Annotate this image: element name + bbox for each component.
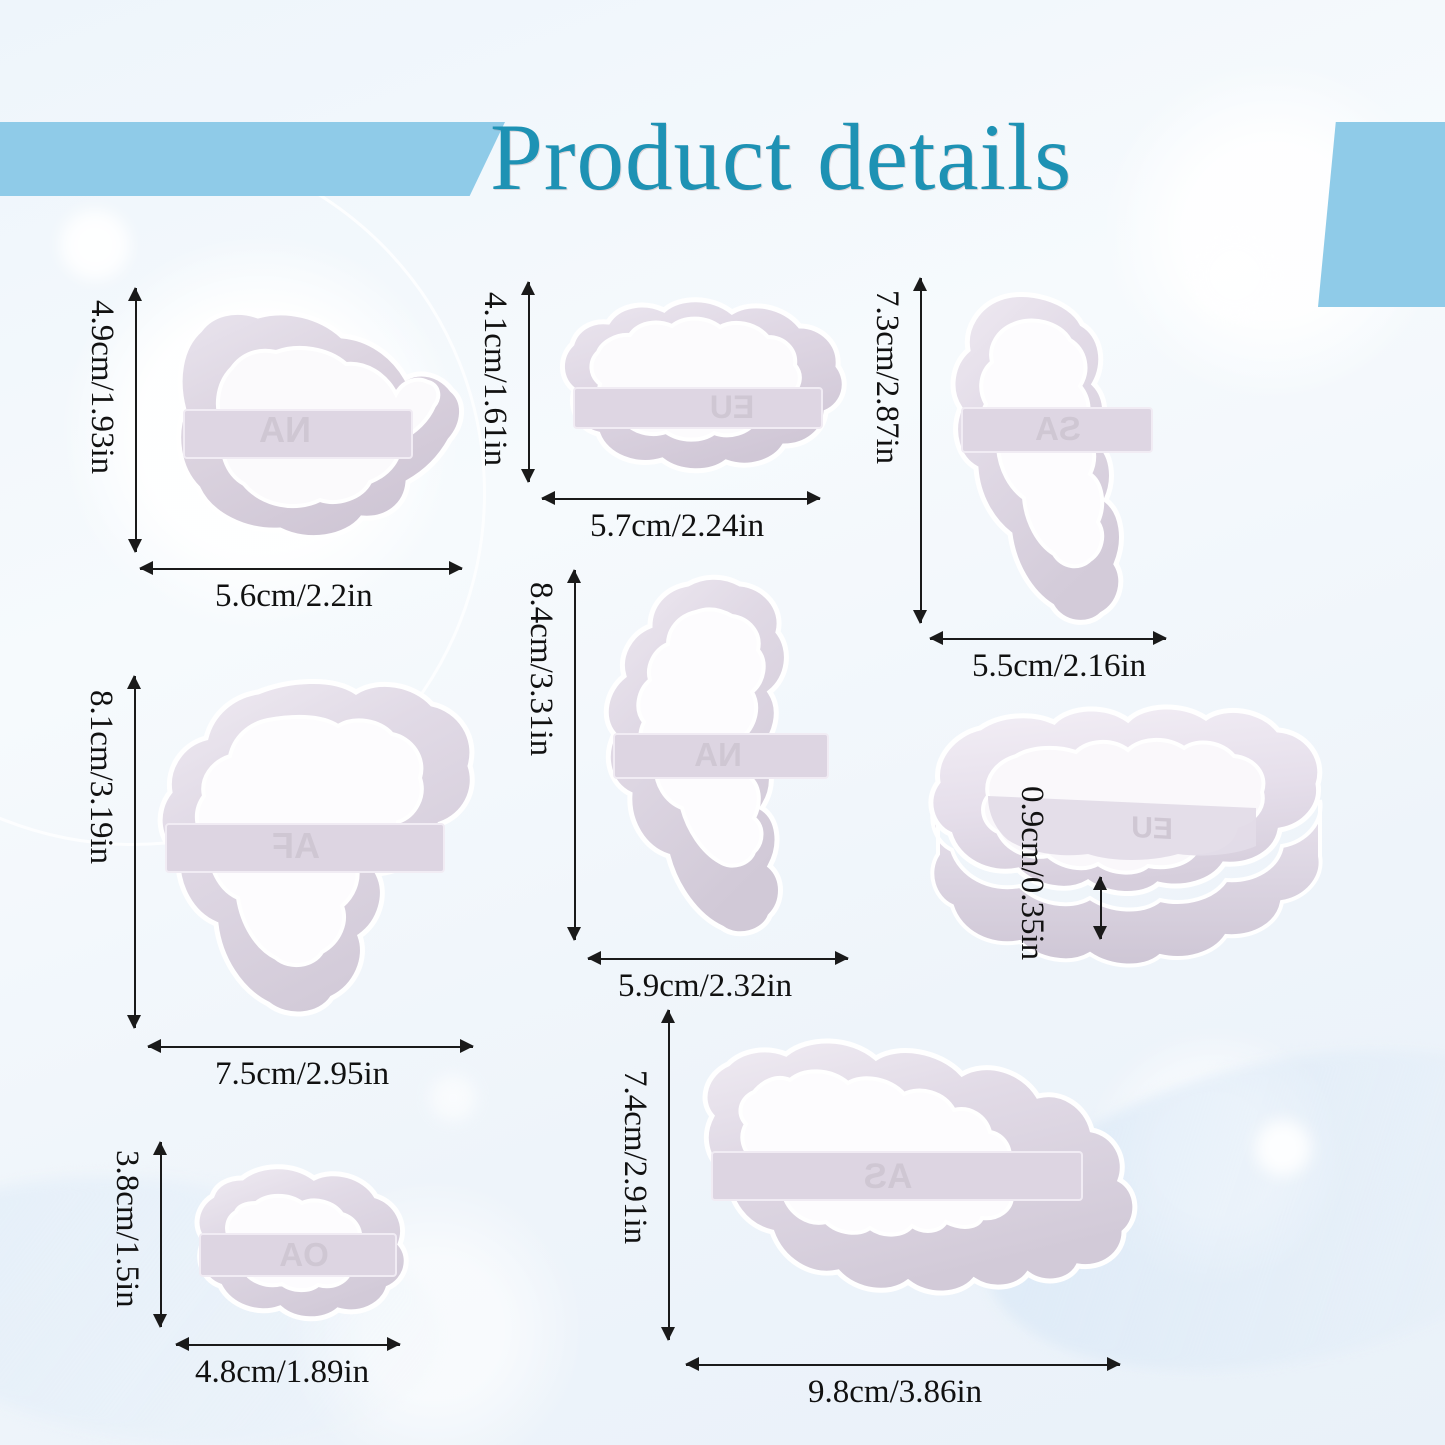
north-america-cookie-cutter: NA xyxy=(140,282,470,552)
product-details-page: Product details NA 4.9cm/1.93in xyxy=(0,0,1445,1445)
dimension-label-height: 7.3cm/2.87in xyxy=(868,290,905,464)
bokeh-dot xyxy=(1190,230,1280,320)
dimension-line-vertical xyxy=(660,1010,676,1340)
embossed-label: AS xyxy=(864,1157,913,1196)
cutter-depth-perspective-view: EU xyxy=(920,680,1340,980)
embossed-label: EU xyxy=(1131,811,1173,846)
dimension-line-vertical xyxy=(126,676,142,1028)
dimension-line-horizontal xyxy=(686,1356,1120,1372)
embossed-label: EU xyxy=(710,389,754,425)
dimension-line-horizontal xyxy=(588,950,848,966)
header-band-right xyxy=(1318,122,1445,307)
bokeh-dot xyxy=(1255,1120,1311,1176)
africa-cookie-cutter: AF xyxy=(148,672,488,1022)
dimension-label-width: 5.9cm/2.32in xyxy=(618,968,792,1005)
europe-cookie-cutter: EU xyxy=(540,278,860,488)
dimension-label-height: 3.8cm/1.5in xyxy=(108,1150,145,1308)
dimension-label-width: 5.7cm/2.24in xyxy=(590,508,764,545)
page-title: Product details xyxy=(490,110,1330,205)
embossed-label: NA xyxy=(694,736,742,773)
dimension-label-width: 5.6cm/2.2in xyxy=(215,578,373,615)
asia-cookie-cutter: AS xyxy=(688,1016,1148,1326)
dimension-label-height: 8.4cm/3.31in xyxy=(522,582,559,756)
dimension-label-width: 4.8cm/1.89in xyxy=(195,1354,369,1391)
dimension-label-height: 8.1cm/3.19in xyxy=(82,690,119,864)
embossed-label: OA xyxy=(279,1236,329,1273)
bokeh-dot xyxy=(60,210,130,280)
dimension-line-horizontal xyxy=(176,1336,400,1352)
dimension-label-height: 7.4cm/2.91in xyxy=(616,1070,653,1244)
dimension-line-horizontal xyxy=(148,1038,473,1054)
dimension-line-vertical xyxy=(152,1142,168,1327)
header-band-left xyxy=(0,122,505,196)
dimension-line-horizontal xyxy=(140,560,462,576)
dimension-label-height: 4.9cm/1.93in xyxy=(83,300,120,474)
dimension-line-horizontal xyxy=(930,630,1166,646)
dimension-label-width: 7.5cm/2.95in xyxy=(215,1056,389,1093)
page-header: Product details xyxy=(0,0,1445,215)
oceania-cookie-cutter: OA xyxy=(178,1138,418,1328)
dimension-label-width: 9.8cm/3.86in xyxy=(808,1374,982,1411)
embossed-label: NA xyxy=(259,409,311,450)
south-america-cookie-cutter: SA xyxy=(930,272,1200,632)
dimension-line-vertical xyxy=(566,570,582,940)
americas-cookie-cutter: NA xyxy=(592,572,852,942)
dimension-label-depth: 0.9cm/0.35in xyxy=(1013,786,1050,960)
dimension-line-vertical xyxy=(912,278,928,623)
bokeh-dot xyxy=(430,1075,476,1121)
dimension-line-vertical xyxy=(127,288,143,552)
dimension-line-vertical xyxy=(520,282,536,482)
dimension-line-horizontal xyxy=(542,490,820,506)
embossed-label: AF xyxy=(272,825,320,866)
dimension-label-height: 4.1cm/1.61in xyxy=(476,292,513,466)
embossed-label: SA xyxy=(1035,410,1081,447)
dimension-line-depth xyxy=(1092,877,1108,939)
